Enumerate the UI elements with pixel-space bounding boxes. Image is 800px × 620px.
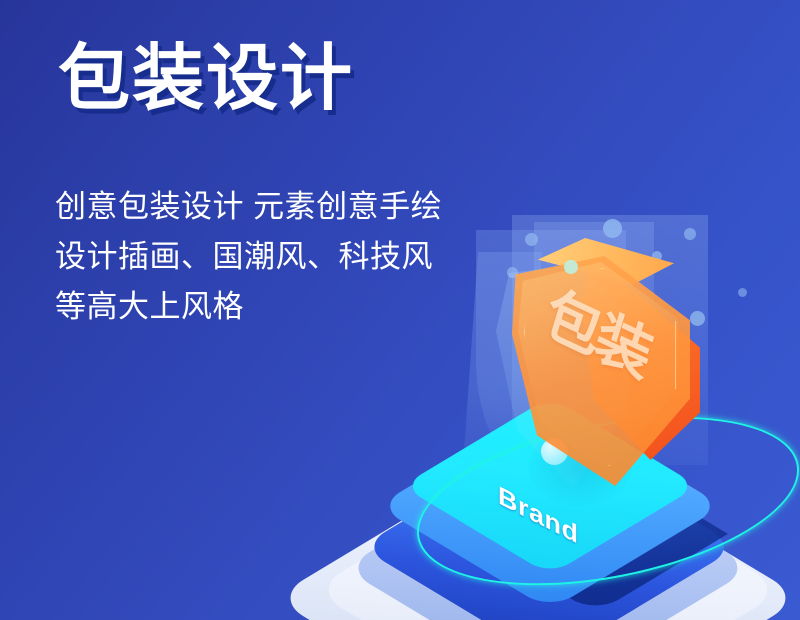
packaging-design-banner: Brand 包装 包装设计 创意包装设计 元素创意手绘设计插画、国潮风、科技风等… — [0, 0, 800, 620]
subtitle-line-1: 创意包装设计 元素创意手绘 — [55, 182, 442, 232]
subtitle: 创意包装设计 元素创意手绘设计插画、国潮风、科技风等高大上风格 — [55, 182, 442, 333]
shield-accent-dot-icon — [564, 260, 578, 274]
page-title: 包装设计 — [58, 40, 354, 119]
background-dot-2 — [603, 219, 622, 238]
subtitle-line-2: 设计插画、国潮风、科技风 — [55, 232, 442, 282]
subtitle-line-3: 等高大上风格 — [55, 282, 442, 332]
shield-icon: 包装 — [490, 238, 750, 498]
